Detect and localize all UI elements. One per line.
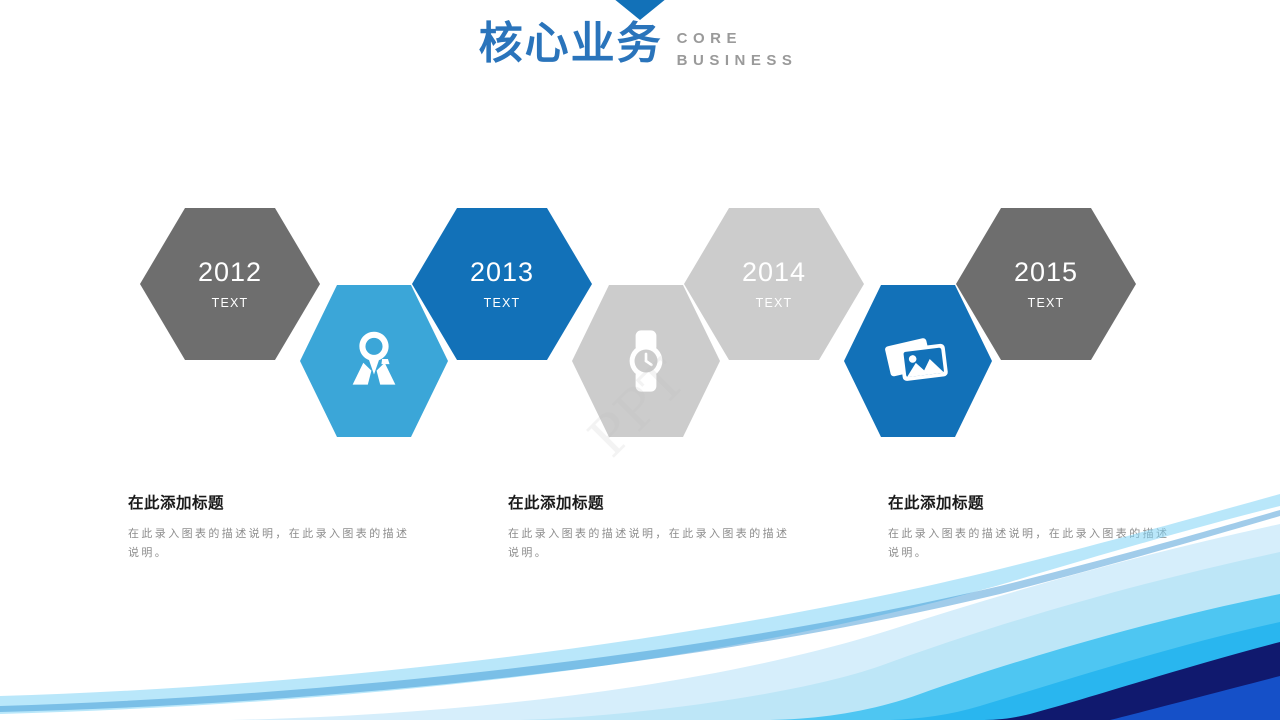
hex-year-2013[interactable]: 2013 TEXT [412, 208, 592, 360]
hex-year-sub: TEXT [212, 297, 249, 310]
slide-header: 核心业务 CORE BUSINESS [0, 22, 1280, 72]
hex-year-sub: TEXT [1028, 297, 1065, 310]
wave-layer-light [520, 552, 1280, 720]
hex-year-value: 2015 [1014, 259, 1078, 286]
map-pin-icon [338, 325, 410, 397]
hex-year-2012[interactable]: 2012 TEXT [140, 208, 320, 360]
slide-canvas: 核心业务 CORE BUSINESS 2012 TEXT 2013 TEXT 2… [0, 0, 1280, 720]
caption-title: 在此添加标题 [128, 494, 428, 513]
caption-title: 在此添加标题 [888, 494, 1188, 513]
hex-year-2014[interactable]: 2014 TEXT [684, 208, 864, 360]
page-subtitle-line1: CORE [677, 28, 798, 50]
caption-body: 在此录入图表的描述说明，在此录入图表的描述说明。 [508, 524, 798, 563]
hex-year-value: 2012 [198, 259, 262, 286]
hex-year-value: 2014 [742, 259, 806, 286]
wave-layer-sky [770, 594, 1280, 720]
photo-stack-icon [880, 326, 956, 396]
wave-layer-cyan [890, 622, 1280, 720]
wave-layer-navy [980, 642, 1280, 720]
down-chevron-icon [608, 0, 672, 20]
caption-block-1: 在此添加标题 在此录入图表的描述说明，在此录入图表的描述说明。 [128, 494, 428, 562]
hex-icon-map-pin[interactable] [300, 285, 448, 437]
hex-icon-wristwatch[interactable] [572, 285, 720, 437]
caption-body: 在此录入图表的描述说明，在此录入图表的描述说明。 [128, 524, 418, 563]
hex-year-2015[interactable]: 2015 TEXT [956, 208, 1136, 360]
caption-row: 在此添加标题 在此录入图表的描述说明，在此录入图表的描述说明。 在此添加标题 在… [128, 494, 1208, 562]
caption-body: 在此录入图表的描述说明，在此录入图表的描述说明。 [888, 524, 1178, 563]
wristwatch-icon [611, 326, 681, 396]
caption-block-2: 在此添加标题 在此录入图表的描述说明，在此录入图表的描述说明。 [508, 494, 808, 562]
hexagon-timeline: 2012 TEXT 2013 TEXT 2014 TEXT 2015 TEXT [0, 0, 1280, 720]
hex-year-value: 2013 [470, 259, 534, 286]
page-subtitle: CORE BUSINESS [677, 22, 798, 72]
wave-layer-blue [1110, 676, 1280, 720]
caption-title: 在此添加标题 [508, 494, 808, 513]
hex-year-sub: TEXT [756, 297, 793, 310]
caption-block-3: 在此添加标题 在此录入图表的描述说明，在此录入图表的描述说明。 [888, 494, 1188, 562]
page-subtitle-line2: BUSINESS [677, 50, 798, 72]
page-title: 核心业务 [479, 22, 663, 66]
hex-year-sub: TEXT [484, 297, 521, 310]
hex-icon-photo-stack[interactable] [844, 285, 992, 437]
